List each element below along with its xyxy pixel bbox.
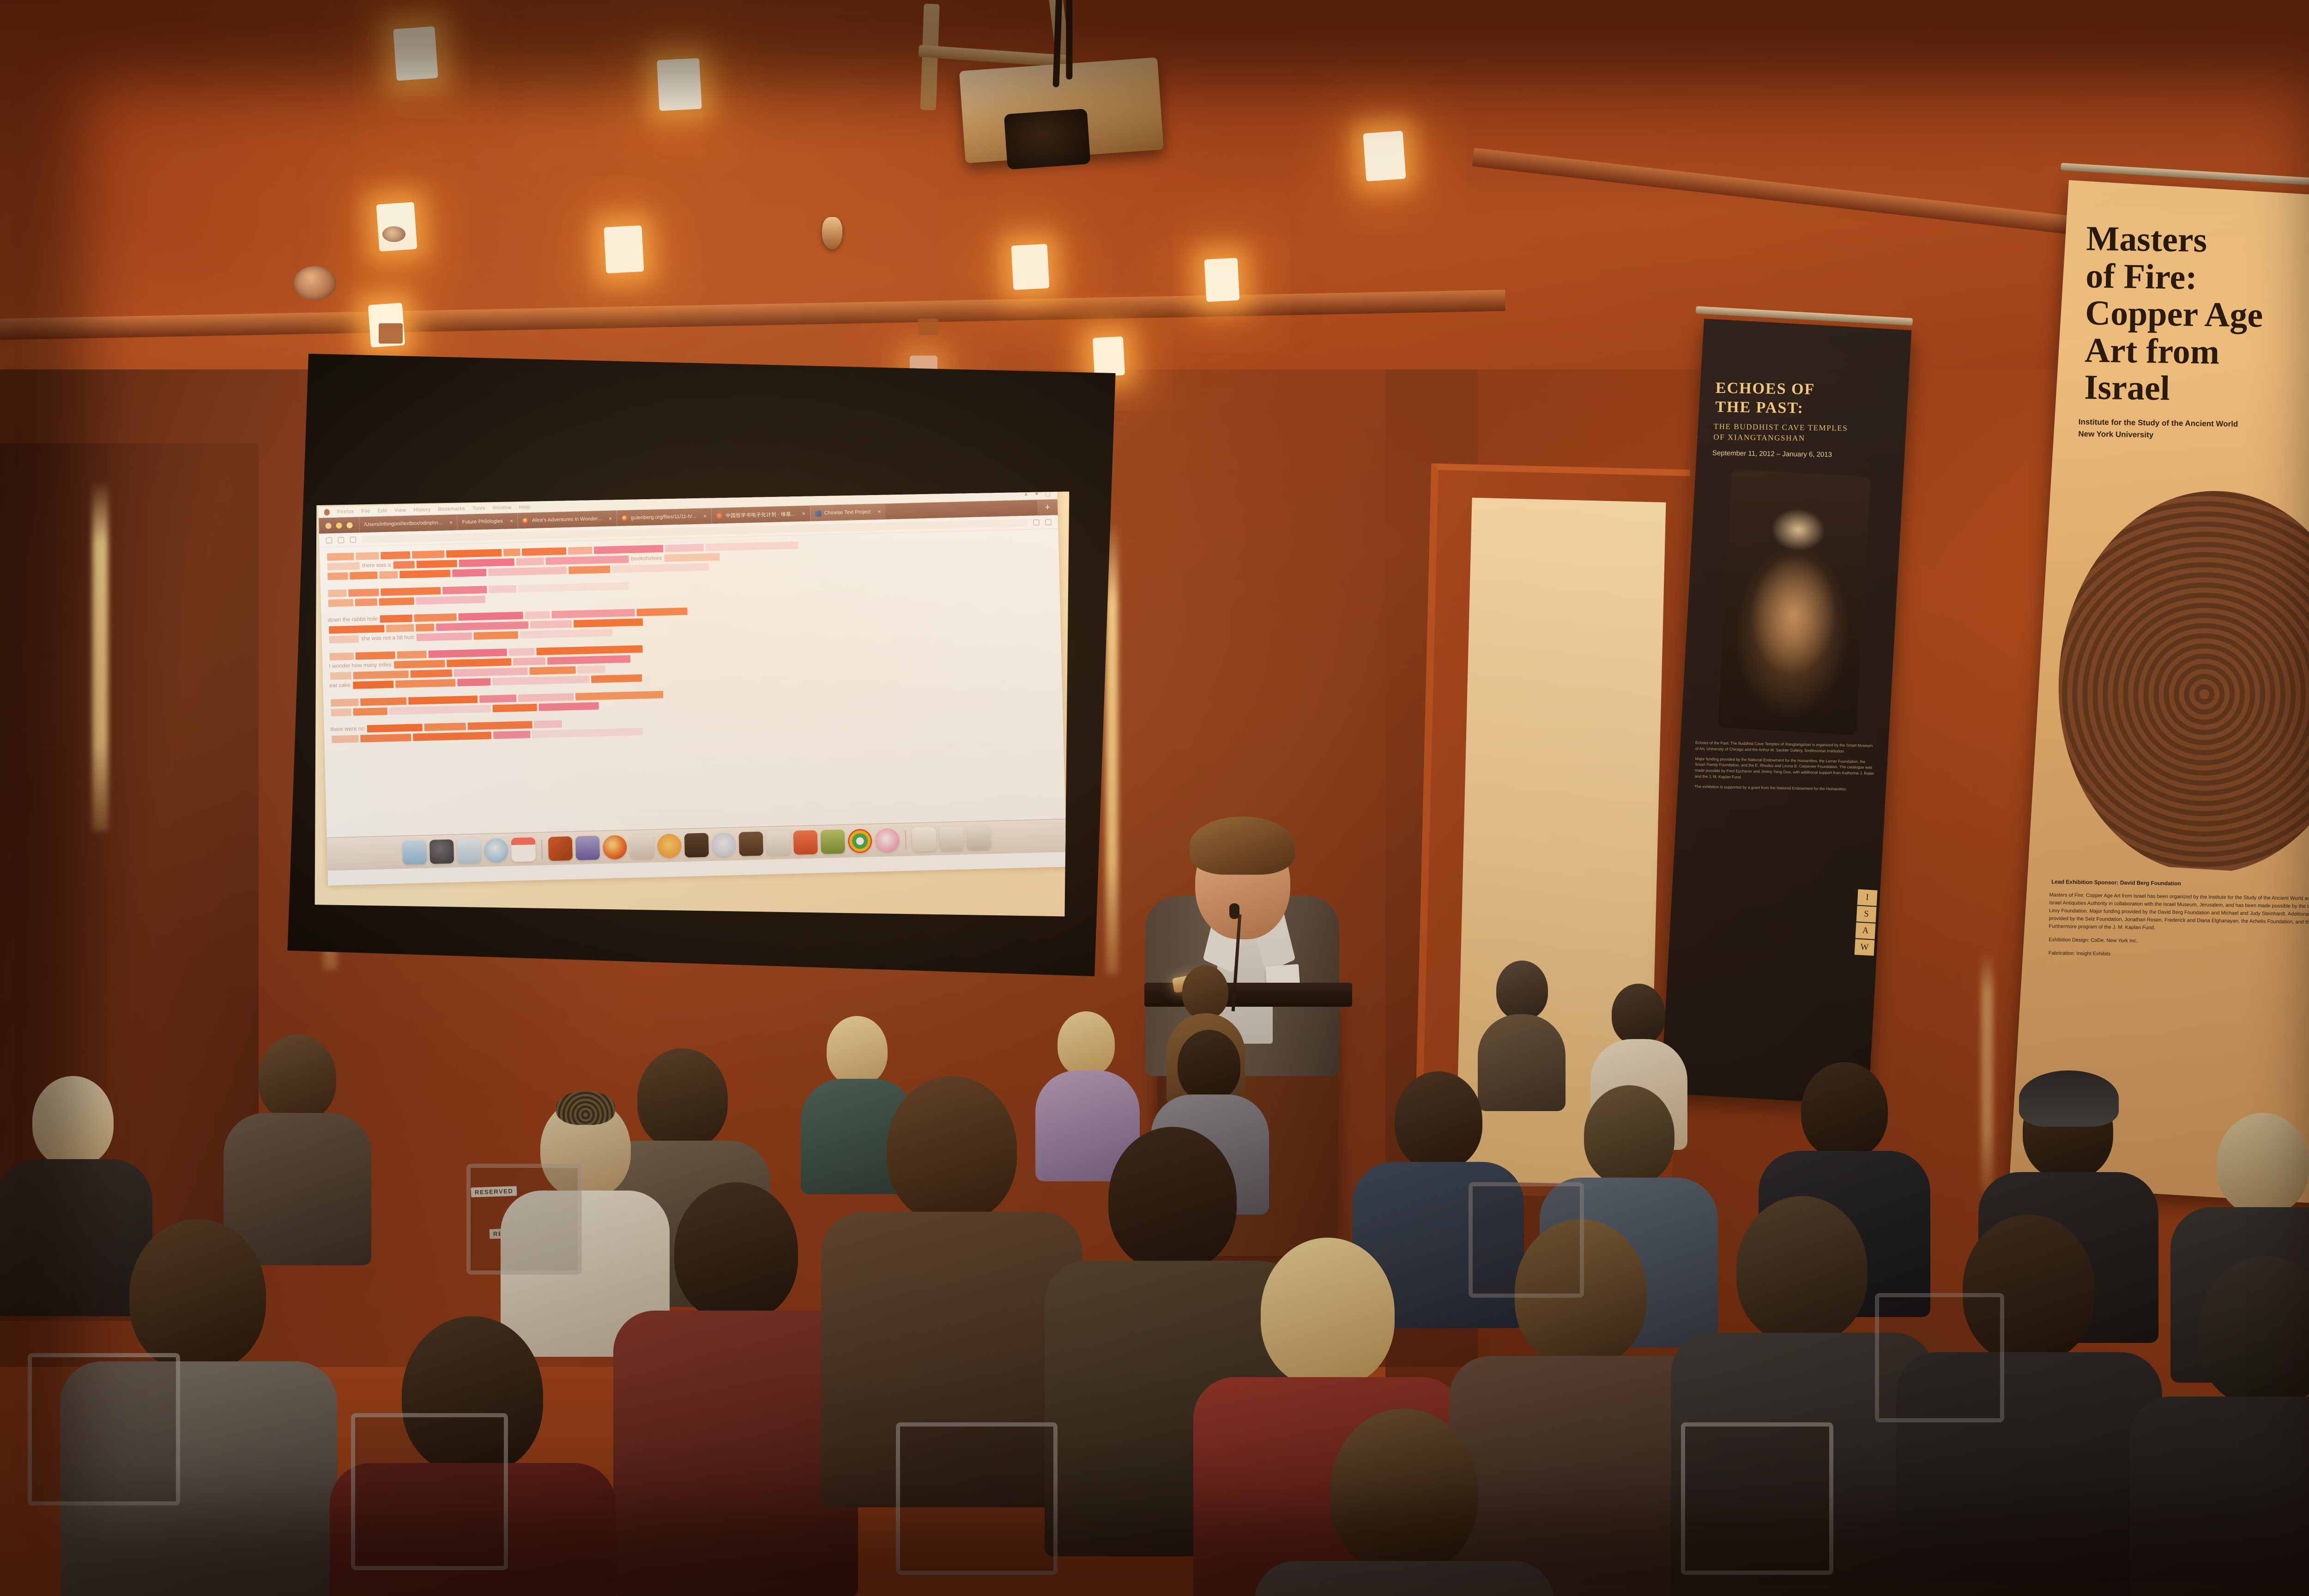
close-tab-icon[interactable]: ×	[605, 515, 612, 522]
audience-chair	[1469, 1182, 1584, 1298]
safari-icon[interactable]	[484, 838, 508, 862]
microphone-head-icon	[1229, 903, 1239, 919]
audience-chair	[1681, 1422, 1833, 1575]
tab-label: Future Philologies	[462, 519, 503, 525]
reload-icon[interactable]	[350, 536, 356, 543]
banner-right-title-line-1: Masters	[2086, 220, 2309, 261]
firefox-icon	[523, 518, 529, 524]
browser-tab-5[interactable]: Chinese Text Project ×	[810, 504, 886, 521]
powerpoint-icon[interactable]	[793, 830, 818, 854]
bibdesk-icon[interactable]	[766, 831, 791, 855]
minimize-window-button[interactable]	[336, 522, 342, 528]
banner-left-credit-1: Echoes of the Past: The Buddhist Cave Te…	[1695, 740, 1875, 755]
ceiling-access-panel	[918, 319, 938, 335]
projection-screen: Firefox File Edit View History Bookmarks…	[275, 348, 1119, 982]
calendar-icon[interactable]	[511, 837, 536, 862]
apple-icon[interactable]	[324, 509, 330, 515]
tab-label: /Users/infongoni/textbox/odinphn...	[364, 520, 442, 527]
close-tab-icon[interactable]: ×	[700, 513, 707, 519]
isaw-letter-i: I	[1857, 889, 1878, 906]
audience-chair	[28, 1353, 180, 1505]
buddhist-guardian-sculpture-image	[1718, 469, 1871, 735]
banner-right-title-line-5: Israel	[2084, 369, 2309, 410]
menu-item-edit[interactable]: Edit	[377, 508, 387, 514]
texshop-icon[interactable]	[739, 831, 763, 856]
ceiling-light	[393, 26, 438, 81]
tab-label: Chinese Text Project	[824, 509, 871, 516]
zoom-window-button[interactable]	[346, 522, 352, 528]
text-highlight-visualization: there was a bookshelves down the rabbit …	[320, 529, 1066, 871]
ceiling-access-panel	[379, 323, 403, 344]
audience-chair	[896, 1422, 1058, 1575]
sprinkler-head	[822, 217, 842, 249]
menu-item-tools[interactable]: Tools	[472, 505, 485, 511]
chinese-site-icon	[716, 513, 722, 519]
firefox-icon	[622, 515, 628, 521]
close-tab-icon[interactable]: ×	[506, 518, 513, 524]
isaw-letter-s: S	[1856, 906, 1877, 922]
tab-label: Alice's Adventures in Wonder...	[532, 516, 602, 523]
banner-echoes-of-the-past: ECHOES OF THE PAST: THE BUDDHIST CAVE TE…	[1661, 319, 1911, 1105]
ceiling-light	[657, 58, 702, 111]
filezilla-icon[interactable]	[548, 836, 573, 861]
wifi-icon[interactable]: ▲	[1023, 491, 1029, 497]
menu-item-view[interactable]: View	[394, 507, 406, 513]
chrome-icon[interactable]	[848, 828, 872, 853]
tab-label: gutenberg.org/files/11/11-h/...	[631, 514, 696, 521]
ceiling-light	[1363, 131, 1406, 181]
preview-icon[interactable]	[630, 834, 654, 858]
tab-label: 中国哲学书电子化计划 - 维基...	[725, 510, 795, 520]
close-window-button[interactable]	[325, 523, 331, 529]
clock[interactable]: ◯	[1045, 491, 1051, 497]
photos-icon[interactable]	[712, 832, 736, 857]
ceiling-vent	[382, 226, 405, 242]
isaw-letter-a: A	[1856, 922, 1876, 939]
banner-right-credit-body: Masters of Fire: Copper Age Art from Isr…	[2049, 891, 2309, 935]
banner-right-title-line-2: of Fire:	[2085, 257, 2309, 298]
bookmark-icon[interactable]	[1033, 519, 1040, 526]
menu-item-window[interactable]: Window	[493, 505, 512, 511]
isaw-letter-w: W	[1855, 939, 1875, 955]
close-tab-icon[interactable]: ×	[446, 519, 453, 526]
banner-left-dates: September 11, 2012 – January 6, 2013	[1712, 449, 1892, 459]
menu-item-file[interactable]: File	[361, 508, 370, 514]
new-tab-button[interactable]: +	[1037, 499, 1058, 515]
battery-icon[interactable]: ■	[1035, 491, 1038, 497]
banner-right-sponsor-line: Lead Exhibition Sponsor: David Berg Foun…	[2051, 878, 2309, 889]
dock-separator	[905, 830, 907, 849]
window-controls[interactable]	[319, 517, 359, 534]
browser-tab-2[interactable]: Alice's Adventures in Wonder... ×	[518, 510, 617, 528]
menu-item-firefox[interactable]: Firefox	[337, 508, 354, 514]
macos-dock[interactable]	[327, 819, 1066, 871]
word-icon[interactable]	[575, 835, 600, 860]
documents-stack-icon[interactable]	[912, 827, 937, 852]
browser-tab-1[interactable]: Future Philologies ×	[457, 513, 518, 530]
banner-right-title-line-4: Art from	[2085, 332, 2309, 373]
audience-chair	[351, 1413, 508, 1570]
audience-chair	[1875, 1293, 2004, 1422]
banner-left-credit-3: The exhibition is supported by a grant f…	[1694, 783, 1874, 792]
browser-tab-4[interactable]: 中国哲学书电子化计划 - 维基... ×	[711, 506, 810, 524]
audience-chair	[466, 1164, 582, 1275]
menu-icon[interactable]	[1045, 519, 1052, 525]
banner-right-title-line-3: Copper Age	[2085, 294, 2309, 335]
ceiling-light	[1204, 258, 1240, 302]
launchpad-icon[interactable]	[429, 839, 454, 864]
speaker-hair	[1190, 816, 1295, 875]
finder-icon[interactable]	[402, 840, 427, 864]
firefox-icon[interactable]	[603, 835, 627, 859]
lecture-hall-photo: Firefox File Edit View History Bookmarks…	[0, 0, 2309, 1596]
isaw-vertical-logo: I S A W	[1855, 889, 1878, 956]
menu-item-history[interactable]: History	[413, 507, 430, 513]
excel-icon[interactable]	[821, 829, 845, 854]
ceiling-light	[604, 225, 644, 273]
ceiling-light	[1011, 244, 1050, 290]
ceiling-projector	[899, 0, 1207, 190]
browser-window[interactable]: Firefox File Edit View History Bookmarks…	[319, 491, 1067, 885]
terminal-icon[interactable]	[684, 833, 709, 857]
close-tab-icon[interactable]: ×	[798, 510, 805, 517]
smoke-detector	[294, 266, 336, 300]
back-icon[interactable]	[326, 537, 332, 543]
browser-tab-3[interactable]: gutenberg.org/files/11/11-h/... ×	[617, 508, 712, 526]
screen-surface: Firefox File Edit View History Bookmarks…	[312, 491, 1072, 921]
wall-light-slot	[92, 480, 108, 831]
browser-tab-0[interactable]: /Users/infongoni/textbox/odinphn... ×	[359, 514, 457, 532]
close-tab-icon[interactable]: ×	[874, 508, 881, 515]
menu-item-bookmarks[interactable]: Bookmarks	[438, 506, 465, 512]
dock-separator	[541, 839, 543, 858]
itunes-icon[interactable]	[875, 828, 900, 852]
wall-light-slot	[1981, 951, 1993, 1191]
menu-item-help[interactable]: Help	[519, 504, 531, 510]
banner-left-subtitle-line-2: OF XIANGTANGSHAN	[1713, 432, 1893, 445]
banner-right-design-credit-2: Fabrication: Insight Exhibits	[2049, 949, 2309, 961]
ctp-icon	[815, 510, 821, 516]
trash-icon[interactable]	[967, 826, 991, 850]
skim-icon[interactable]	[657, 834, 682, 858]
downloads-stack-icon[interactable]	[939, 826, 964, 851]
forward-icon[interactable]	[338, 537, 344, 543]
banner-left-title-line-1: ECHOES OF	[1716, 379, 1896, 400]
banner-right-design-credit-1: Exhibition Design: CoDe. New York Inc.	[2049, 936, 2309, 948]
banner-left-title-line-2: THE PAST:	[1715, 398, 1896, 419]
banner-left-credit-2: Major funding provided by the National E…	[1695, 756, 1875, 782]
mail-icon[interactable]	[457, 839, 481, 863]
coiled-reed-mat-image	[2048, 445, 2309, 878]
